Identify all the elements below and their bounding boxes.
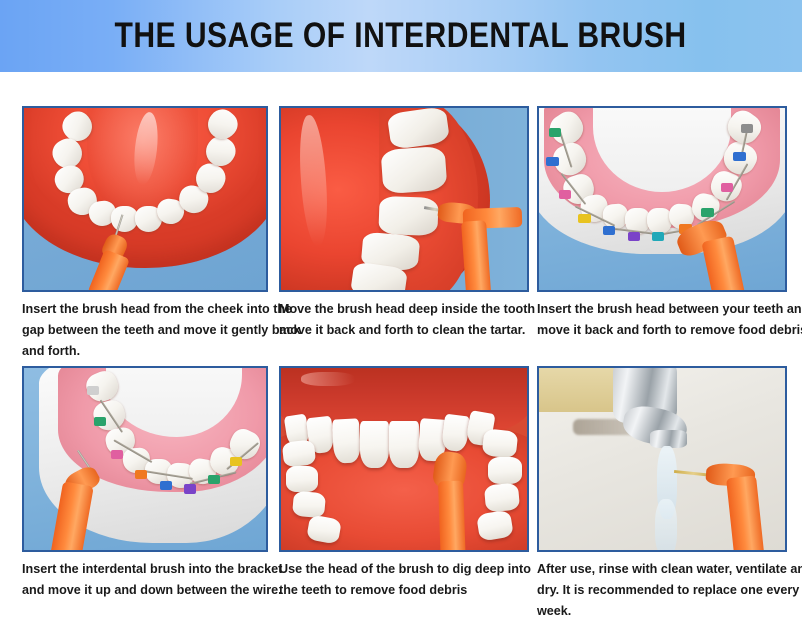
lower-molar [488,457,522,484]
molar-tooth [380,146,447,194]
front-tooth [389,421,419,468]
braces-bracket [578,214,590,223]
front-tooth [332,418,361,463]
braces-bracket [701,208,713,217]
panel-4-photo [22,366,268,552]
braces-bracket [111,450,123,459]
panel-6-photo [537,366,787,552]
panel-1-photo [22,106,268,292]
panel-6: After use, rinse with clean water, venti… [537,366,787,622]
lower-molar [481,428,518,459]
panel-2: Move the brush head deep inside the toot… [279,106,529,341]
caption-line: Use the head of the brush to dig deep in… [279,559,529,580]
panel-grid: Insert the brush head from the cheek int… [0,72,802,637]
panel-2-photo [279,106,529,292]
front-tooth [360,421,390,468]
panel-3-caption: Insert the brush head between your teeth… [537,299,787,341]
caption-line: and forth. [22,341,268,362]
panel-5: Use the head of the brush to dig deep in… [279,366,529,601]
braces-bracket [94,417,106,426]
panel-2-caption: Move the brush head deep inside the toot… [279,299,529,341]
braces-bracket [603,226,615,235]
braces-bracket [628,232,640,241]
upper-gum-highlight [301,372,355,387]
panel-4-caption: Insert the interdental brush into the br… [22,559,268,601]
braces-bracket [160,481,172,490]
braces-bracket [135,470,147,479]
page-header-band: THE USAGE OF INTERDENTAL BRUSH [0,0,802,72]
panel-1: Insert the brush head from the cheek int… [22,106,268,362]
caption-line: Insert the interdental brush into the br… [22,559,268,580]
caption-line: move it back and forth to clean the tart… [279,320,529,341]
panel-5-photo [279,366,529,552]
braces-bracket [741,124,753,133]
braces-bracket [546,157,558,166]
panel-1-caption: Insert the brush head from the cheek int… [22,299,268,362]
caption-line: After use, rinse with clean water, venti… [537,559,787,580]
caption-line: the teeth to remove food debris [279,580,529,601]
panel-3-photo [537,106,787,292]
caption-line: Insert the brush head from the cheek int… [22,299,268,320]
tooth [647,208,672,233]
page-title: THE USAGE OF INTERDENTAL BRUSH [115,16,687,56]
caption-line: dry. It is recommended to replace one ev… [537,580,787,601]
caption-line: Move the brush head deep inside the toot… [279,299,529,320]
caption-line: Insert the brush head between your teeth… [537,299,787,320]
braces-bracket [733,152,745,161]
panel-3: Insert the brush head between your teeth… [537,106,787,341]
braces-bracket [208,475,220,484]
caption-line: gap between the teeth and move it gently… [22,320,268,341]
tooth [111,206,138,231]
panel-5-caption: Use the head of the brush to dig deep in… [279,559,529,601]
molar-tooth [379,196,439,236]
panel-4: Insert the interdental brush into the br… [22,366,268,601]
braces-bracket [652,232,664,241]
caption-line: move it back and forth to remove food de… [537,320,787,341]
braces-bracket [549,128,561,137]
caption-line: and move it up and down between the wire… [22,580,268,601]
water-stream-lower [655,499,677,552]
lower-molar [292,490,326,518]
panel-6-caption: After use, rinse with clean water, venti… [537,559,787,622]
caption-line: week. [537,601,787,622]
braces-bracket [184,484,196,493]
brush-handle [438,480,465,552]
braces-bracket [559,190,571,199]
braces-bracket [87,386,99,395]
braces-bracket [721,183,733,192]
lower-molar [286,466,318,491]
braces-bracket [230,457,242,466]
